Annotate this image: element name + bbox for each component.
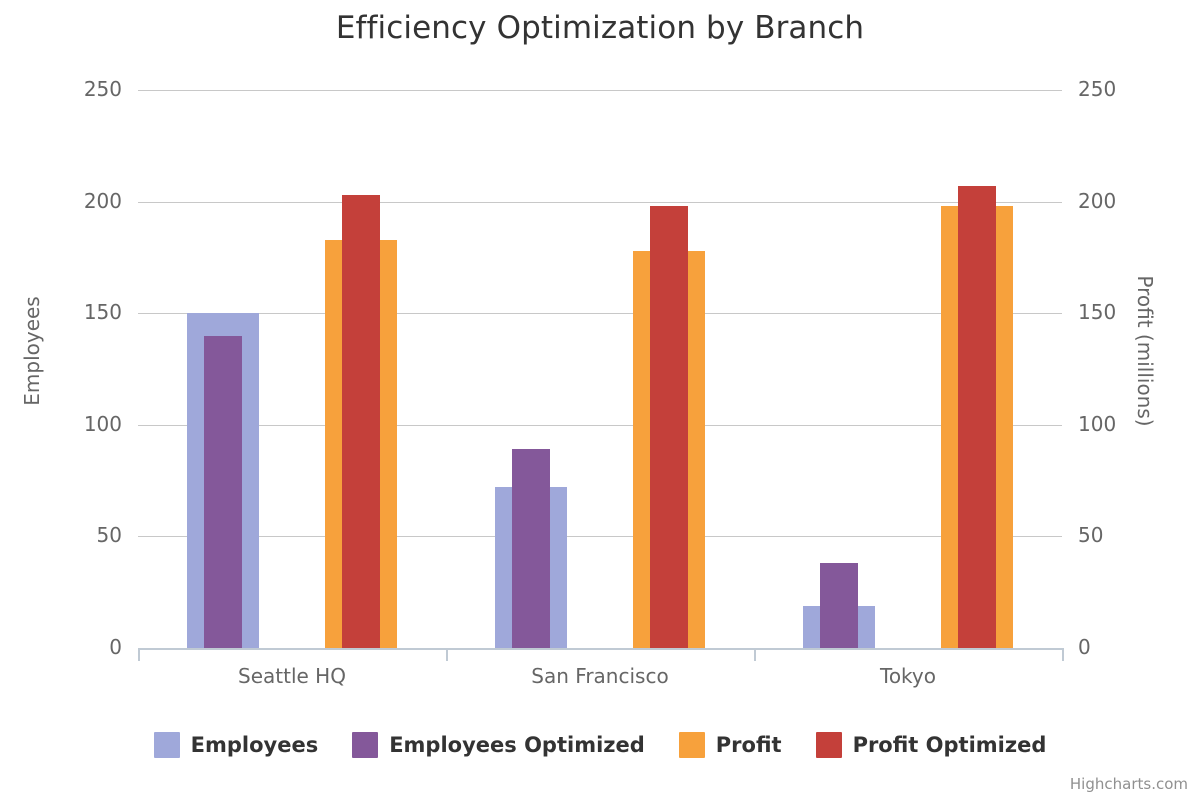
y-axis-title-left: Employees (20, 201, 44, 501)
gridline (138, 536, 1062, 537)
y-axis-tick-label-left: 200 (84, 189, 122, 213)
legend-label: Employees Optimized (389, 733, 645, 757)
bar-profit-optimized-seattle-hq[interactable] (342, 195, 380, 648)
chart-title: Efficiency Optimization by Branch (0, 10, 1200, 46)
legend-swatch-icon (816, 732, 842, 758)
gridline (138, 425, 1062, 426)
plot-area (138, 90, 1062, 648)
y-axis-tick-label-right: 100 (1078, 412, 1116, 436)
y-axis-tick-label-left: 150 (84, 300, 122, 324)
x-axis-tick (754, 648, 756, 661)
y-axis-tick-label-right: 0 (1078, 635, 1091, 659)
legend-label: Profit (716, 733, 782, 757)
legend-item-employees[interactable]: Employees (154, 732, 319, 758)
chart-legend: EmployeesEmployees OptimizedProfitProfit… (0, 732, 1200, 758)
y-axis-tick-label-right: 150 (1078, 300, 1116, 324)
legend-label: Profit Optimized (853, 733, 1047, 757)
gridline (138, 313, 1062, 314)
bar-profit-optimized-san-francisco[interactable] (650, 206, 688, 648)
y-axis-title-right: Profit (millions) (1133, 201, 1157, 501)
x-axis-tick (1062, 648, 1064, 661)
gridline (138, 90, 1062, 91)
y-axis-tick-label-left: 0 (109, 635, 122, 659)
y-axis-tick-label-right: 200 (1078, 189, 1116, 213)
x-axis-tick (446, 648, 448, 661)
legend-swatch-icon (679, 732, 705, 758)
y-axis-tick-label-left: 50 (97, 523, 122, 547)
bar-employees-optimized-seattle-hq[interactable] (204, 336, 242, 648)
x-axis-tick (138, 648, 140, 661)
y-axis-tick-label-left: 100 (84, 412, 122, 436)
legend-label: Employees (191, 733, 319, 757)
highcharts-credits[interactable]: Highcharts.com (1070, 775, 1188, 793)
y-axis-tick-label-right: 50 (1078, 523, 1103, 547)
legend-item-profit[interactable]: Profit (679, 732, 782, 758)
bar-profit-optimized-tokyo[interactable] (958, 186, 996, 648)
x-axis-category-label: Seattle HQ (138, 664, 446, 688)
bar-employees-optimized-san-francisco[interactable] (512, 449, 550, 648)
legend-item-employees-optimized[interactable]: Employees Optimized (352, 732, 645, 758)
x-axis-category-label: Tokyo (754, 664, 1062, 688)
x-axis-line (138, 648, 1063, 650)
x-axis-category-label: San Francisco (446, 664, 754, 688)
chart-container: Efficiency Optimization by Branch 005050… (0, 0, 1200, 800)
y-axis-tick-label-left: 250 (84, 77, 122, 101)
legend-item-profit-optimized[interactable]: Profit Optimized (816, 732, 1047, 758)
bar-employees-optimized-tokyo[interactable] (820, 563, 858, 648)
legend-swatch-icon (352, 732, 378, 758)
y-axis-tick-label-right: 250 (1078, 77, 1116, 101)
legend-swatch-icon (154, 732, 180, 758)
gridline (138, 202, 1062, 203)
